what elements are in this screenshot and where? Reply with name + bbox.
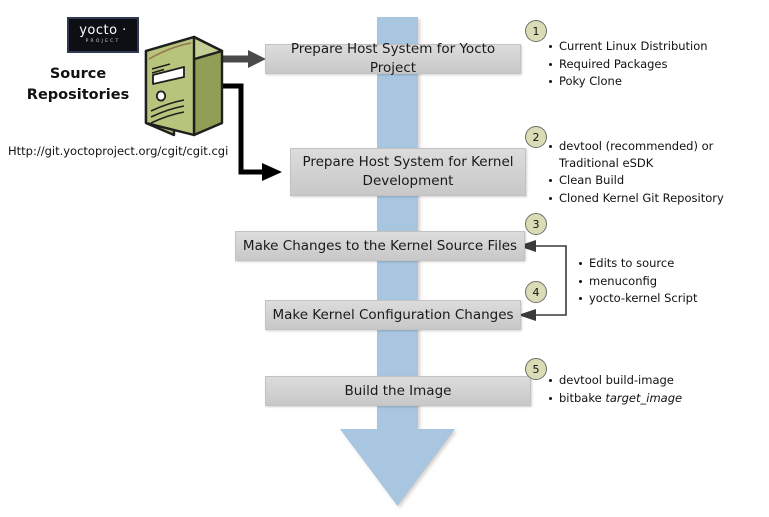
note-item: yocto-kernel Script — [578, 290, 763, 307]
process-box-prepare-host-kernel-line2: Development — [302, 172, 513, 191]
note-item: Cloned Kernel Git Repository — [548, 190, 763, 207]
source-repositories-label-line1: Source — [12, 64, 144, 85]
notes-step-2: devtool (recommended) or Traditional eSD… — [548, 138, 763, 207]
yocto-project-logo: yocto · PROJECT — [67, 17, 139, 53]
process-box-build-image[interactable]: Build the Image — [265, 376, 531, 406]
note-command-arg: target_image — [605, 391, 682, 405]
note-item: devtool (recommended) or Traditional eSD… — [548, 138, 763, 171]
step-number-2: 2 — [525, 126, 547, 148]
logo-subtitle: PROJECT — [86, 38, 121, 45]
step-number-5: 5 — [525, 358, 547, 380]
process-box-prepare-host-yocto[interactable]: Prepare Host System for Yocto Project — [265, 44, 521, 74]
note-command-prefix: bitbake — [559, 391, 605, 405]
diagram-canvas: yocto · PROJECT Source Repositories Http… — [0, 0, 769, 517]
notes-step-5: devtool build-image bitbake target_image — [548, 372, 763, 407]
step-number-1: 1 — [525, 20, 547, 42]
notes-steps-3-4: Edits to source menuconfig yocto-kernel … — [578, 255, 763, 308]
note-item: Required Packages — [548, 56, 763, 73]
note-item: bitbake target_image — [548, 390, 763, 407]
note-item: Clean Build — [548, 172, 763, 189]
process-box-prepare-host-kernel-line1: Prepare Host System for Kernel — [302, 153, 513, 172]
connector-source-to-step1 — [222, 50, 266, 68]
note-item: Current Linux Distribution — [548, 38, 763, 55]
notes-step-1: Current Linux Distribution Required Pack… — [548, 38, 763, 91]
process-box-prepare-host-kernel[interactable]: Prepare Host System for Kernel Developme… — [290, 148, 526, 196]
source-repositories-label: Source Repositories — [12, 64, 144, 106]
server-tower-icon — [132, 31, 228, 141]
note-item: Poky Clone — [548, 73, 763, 90]
process-box-make-kernel-config-changes[interactable]: Make Kernel Configuration Changes — [265, 300, 521, 330]
step-number-4: 4 — [525, 281, 547, 303]
source-repository-url: Http://git.yoctoproject.org/cgit/cgit.cg… — [8, 144, 238, 158]
logo-wordmark: yocto · — [79, 25, 127, 37]
step-number-3: 3 — [525, 213, 547, 235]
note-item: devtool build-image — [548, 372, 763, 389]
note-item: Edits to source — [578, 255, 763, 272]
source-repositories-label-line2: Repositories — [12, 85, 144, 106]
note-item: menuconfig — [578, 273, 763, 290]
process-box-make-kernel-source-changes[interactable]: Make Changes to the Kernel Source Files — [235, 231, 525, 261]
connector-notes-to-step3-step4 — [518, 240, 566, 321]
